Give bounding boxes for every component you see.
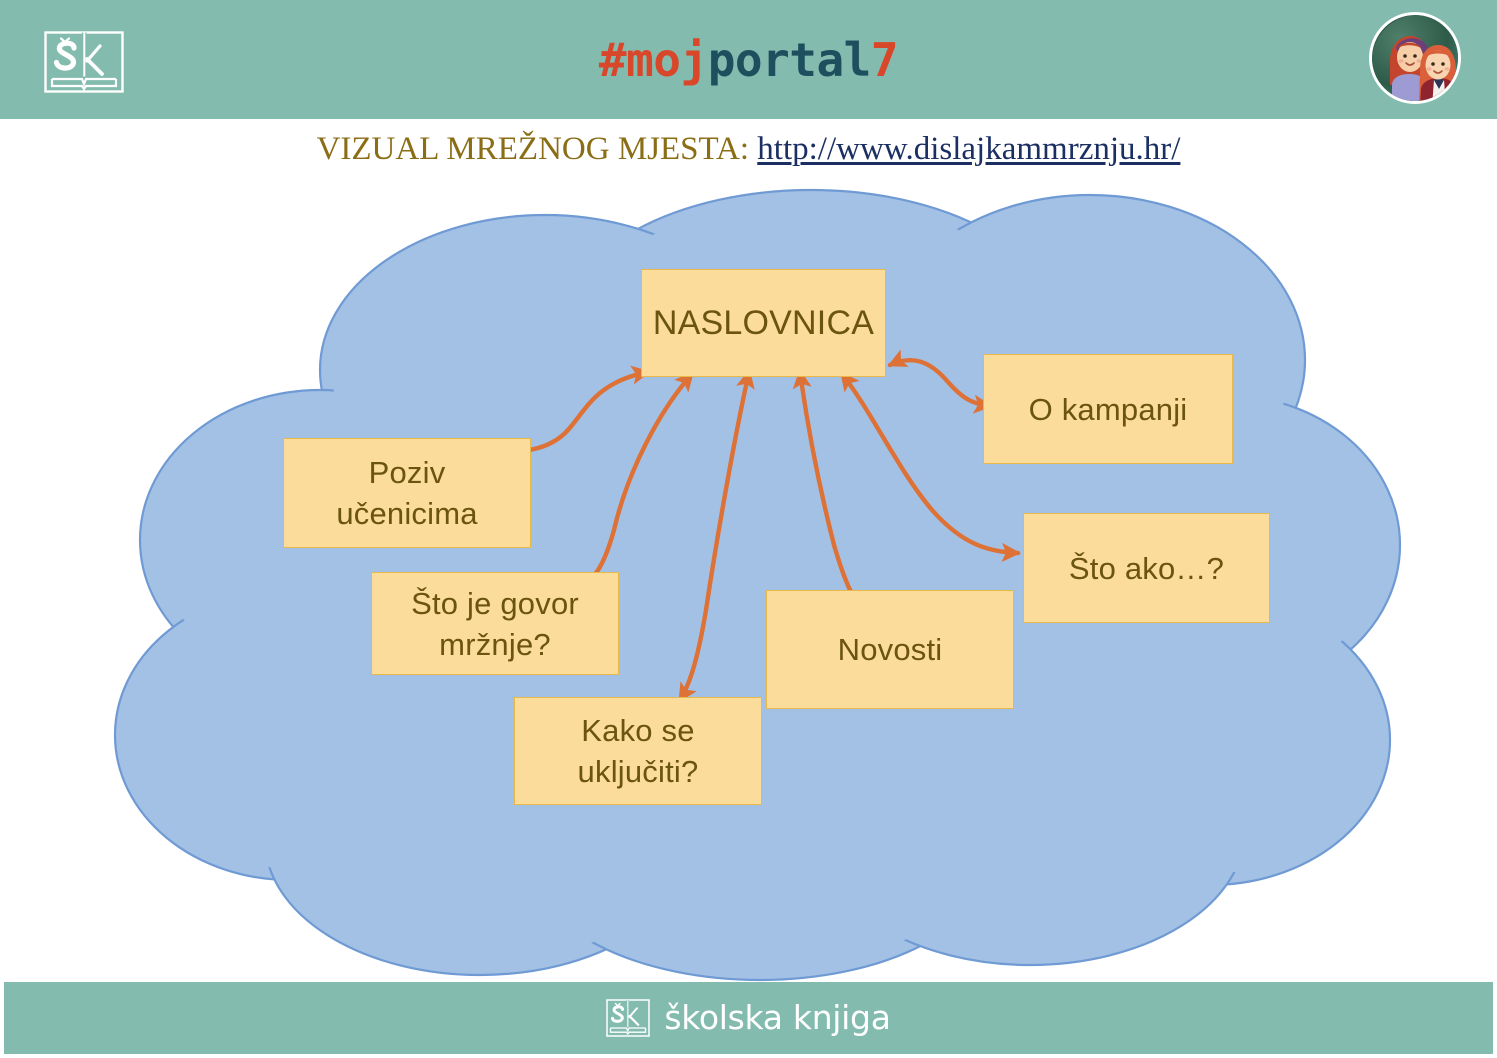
connector-naslovnica-okampanji [890, 360, 990, 406]
footer-brand: školska knjiga [4, 982, 1493, 1054]
slide-canvas: #mojportal7 [0, 0, 1497, 1058]
footer-brand-label: školska knjiga [664, 999, 890, 1037]
page-title-part-portal: portal [708, 33, 871, 87]
node-sto-je-govor-mrznje-line2: mržnje? [439, 627, 551, 662]
node-kako-se-ukljuciti-line2: uključiti? [578, 754, 699, 789]
node-sto-je-govor-mrznje-line1: Što je govor [411, 586, 579, 621]
connector-naslovnica-govor [574, 374, 692, 590]
node-o-kampanji-label: O kampanji [1029, 389, 1188, 430]
node-novosti-label: Novosti [838, 629, 943, 670]
site-url-link[interactable]: http://www.dislajkammrznju.hr/ [757, 131, 1180, 167]
node-poziv-ucenicima-line2: učenicima [336, 496, 477, 531]
node-kako-se-ukljuciti-label: Kako se uključiti? [578, 710, 699, 792]
subtitle-label: VIZUAL MREŽNOG MJESTA: [317, 131, 758, 167]
node-poziv-ucenicima-label: Poziv učenicima [336, 452, 477, 534]
node-kako-se-ukljuciti-line1: Kako se [581, 713, 694, 748]
node-novosti[interactable]: Novosti [766, 590, 1014, 709]
footer-bar: školska knjiga [4, 982, 1493, 1054]
node-o-kampanji[interactable]: O kampanji [983, 354, 1233, 464]
connector-naslovnica-novosti [800, 372, 862, 607]
node-poziv-ucenicima-line1: Poziv [369, 455, 446, 490]
node-poziv-ucenicima[interactable]: Poziv učenicima [283, 438, 531, 548]
node-sto-ako-label: Što ako…? [1069, 548, 1224, 589]
subtitle-line: VIZUAL MREŽNOG MJESTA: http://www.dislaj… [0, 128, 1497, 170]
page-title: #mojportal7 [0, 32, 1497, 88]
two-students-avatar [1369, 12, 1461, 104]
page-title-part-seven: 7 [871, 33, 898, 87]
node-naslovnica[interactable]: NASLOVNICA [641, 269, 886, 377]
connector-naslovnica-kako [680, 372, 749, 700]
node-naslovnica-label: NASLOVNICA [653, 303, 874, 344]
skolska-knjiga-logo [606, 999, 650, 1037]
node-kako-se-ukljuciti[interactable]: Kako se uključiti? [514, 697, 762, 805]
node-sto-je-govor-mrznje-label: Što je govor mržnje? [411, 583, 579, 665]
page-title-part-hashmoj: #moj [599, 33, 708, 87]
node-sto-je-govor-mrznje[interactable]: Što je govor mržnje? [371, 572, 619, 675]
node-sto-ako[interactable]: Što ako…? [1023, 513, 1270, 623]
